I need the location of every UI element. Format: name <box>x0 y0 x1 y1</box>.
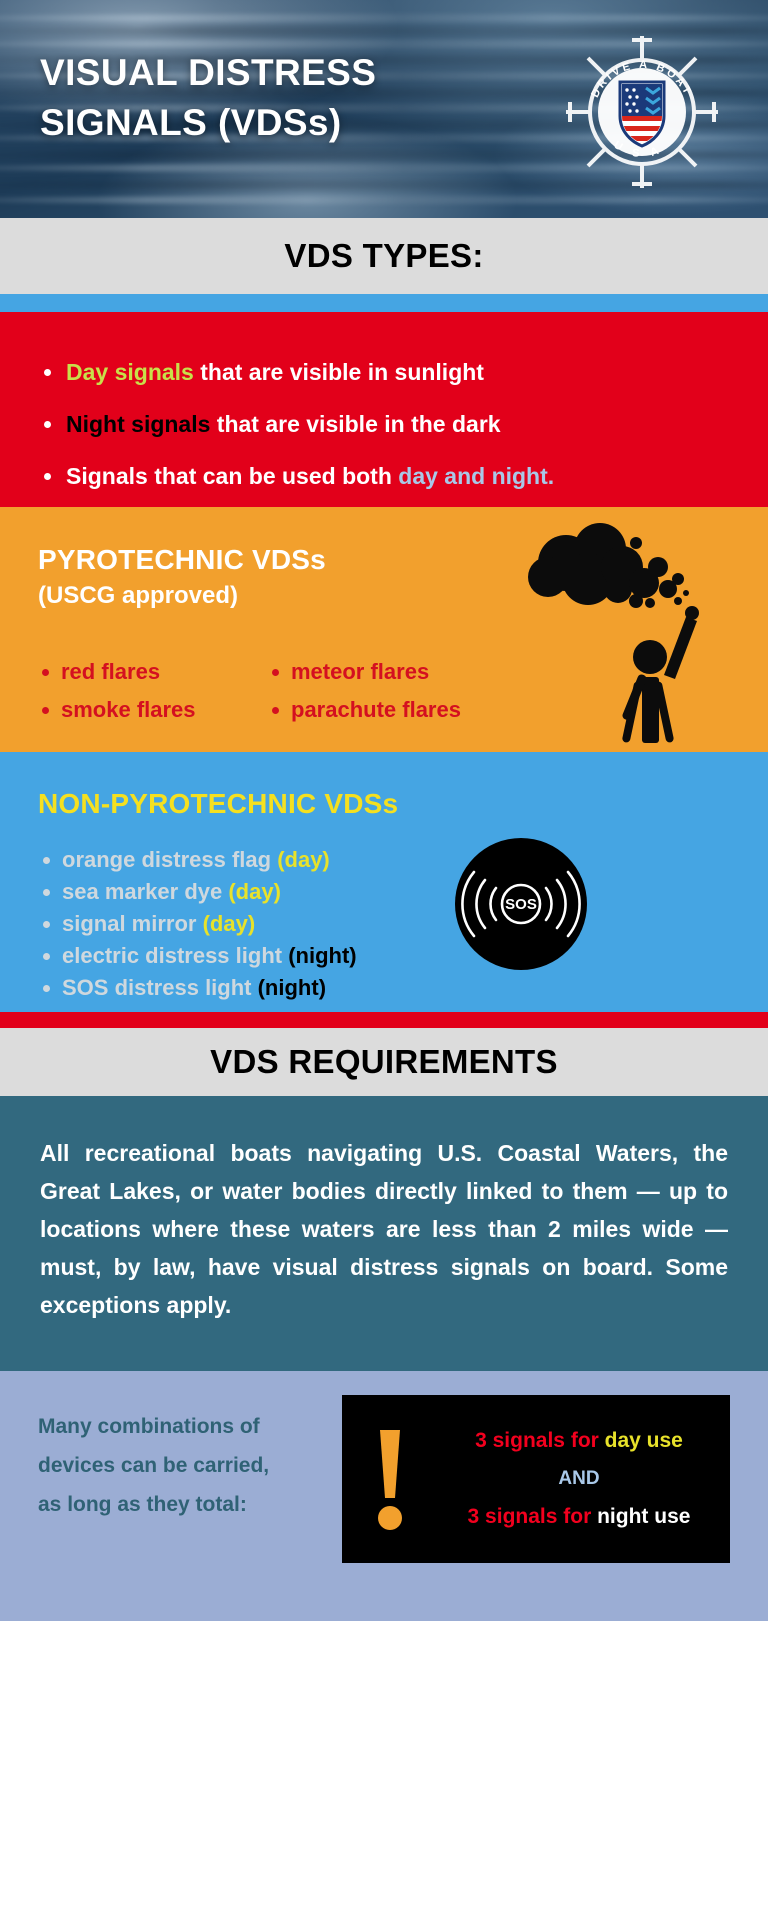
non-pyrotechnic-panel: NON-PYROTECHNIC VDSs orange distress fla… <box>0 752 768 1012</box>
divider-red <box>0 1012 768 1028</box>
item-tag-night: (night) <box>258 975 326 1000</box>
non-pyrotechnic-list: orange distress flag (day) sea marker dy… <box>38 844 357 1004</box>
non-pyrotechnic-title: NON-PYROTECHNIC VDSs <box>38 788 398 820</box>
list-item: electric distress light (night) <box>38 940 357 972</box>
item-label: signal mirror <box>62 911 203 936</box>
note-line-3: 3 signals for night use <box>438 1498 720 1536</box>
bullet-rest: that are visible in the dark <box>210 411 500 437</box>
exclamation-mark-icon <box>342 1424 438 1534</box>
smoke-flare-person-icon <box>518 507 748 752</box>
sos-label: SOS <box>505 896 537 913</box>
bullet-emphasis: Signals that can be used both <box>66 463 398 489</box>
list-item: signal mirror (day) <box>38 908 357 940</box>
note-line-3-suffix: night use <box>597 1505 690 1528</box>
vds-types-panel: Day signals that are visible in sunlight… <box>0 312 768 507</box>
list-item: meteor flares <box>268 653 498 691</box>
item-label: electric distress light <box>62 943 288 968</box>
item-tag-day: (day) <box>277 847 330 872</box>
footer-lead-text: Many combinations of devices can be carr… <box>38 1407 298 1524</box>
page-title: VISUAL DISTRESS SIGNALS (VDSs) <box>40 48 376 148</box>
vds-types-heading: VDS TYPES: <box>0 218 768 294</box>
item-tag-night: (night) <box>288 943 356 968</box>
pyrotechnic-subtitle: (USCG approved) <box>38 579 238 613</box>
pyrotechnic-title: PYROTECHNIC VDSs <box>38 542 326 578</box>
note-line-1-prefix: 3 signals for <box>475 1429 605 1452</box>
note-lines: 3 signals for day use AND 3 signals for … <box>438 1422 730 1536</box>
vds-types-list: Day signals that are visible in sunlight… <box>40 346 554 502</box>
note-line-1-suffix: day use <box>605 1429 683 1452</box>
bullet-rest: day and night. <box>398 463 554 489</box>
requirements-paragraph: All recreational boats navigating U.S. C… <box>0 1096 768 1324</box>
pyrotechnic-list-left: red flares smoke flares <box>38 653 268 729</box>
note-line-1: 3 signals for day use <box>438 1422 720 1460</box>
item-label: orange distress flag <box>62 847 277 872</box>
sos-signal-icon: SOS <box>455 838 587 970</box>
bullet-emphasis: Night signals <box>66 411 210 437</box>
list-item: sea marker dye (day) <box>38 876 357 908</box>
pyrotechnic-list-right: meteor flares parachute flares <box>268 653 498 729</box>
bullet-rest: that are visible in sunlight <box>194 359 484 385</box>
bullet-emphasis: Day signals <box>66 359 194 385</box>
pyrotechnic-lists: red flares smoke flares meteor flares pa… <box>38 653 498 729</box>
list-item: SOS distress light (night) <box>38 972 357 1004</box>
list-item: smoke flares <box>38 691 268 729</box>
infographic-page: VISUAL DISTRESS SIGNALS (VDSs) DRIVE A B… <box>0 0 768 1920</box>
list-item: red flares <box>38 653 268 691</box>
item-tag-day: (day) <box>203 911 256 936</box>
item-tag-day: (day) <box>228 879 281 904</box>
divider-blue <box>0 294 768 312</box>
list-item: Signals that can be used both day and ni… <box>40 450 554 502</box>
list-item: orange distress flag (day) <box>38 844 357 876</box>
vds-requirements-panel: All recreational boats navigating U.S. C… <box>0 1096 768 1371</box>
note-line-2: AND <box>438 1460 720 1498</box>
list-item: Day signals that are visible in sunlight <box>40 346 554 398</box>
pyrotechnic-panel: PYROTECHNIC VDSs (USCG approved) red fla… <box>0 507 768 752</box>
list-item: Night signals that are visible in the da… <box>40 398 554 450</box>
vds-requirements-heading: VDS REQUIREMENTS <box>0 1028 768 1096</box>
footer-panel: Many combinations of devices can be carr… <box>0 1371 768 1621</box>
list-item: parachute flares <box>268 691 498 729</box>
note-line-3-prefix: 3 signals for <box>468 1505 598 1528</box>
signal-count-note: 3 signals for day use AND 3 signals for … <box>342 1395 730 1563</box>
item-label: sea marker dye <box>62 879 228 904</box>
item-label: SOS distress light <box>62 975 258 1000</box>
drive-a-boat-usa-logo: DRIVE A BOAT <box>560 30 724 194</box>
hero-banner: VISUAL DISTRESS SIGNALS (VDSs) DRIVE A B… <box>0 0 768 218</box>
